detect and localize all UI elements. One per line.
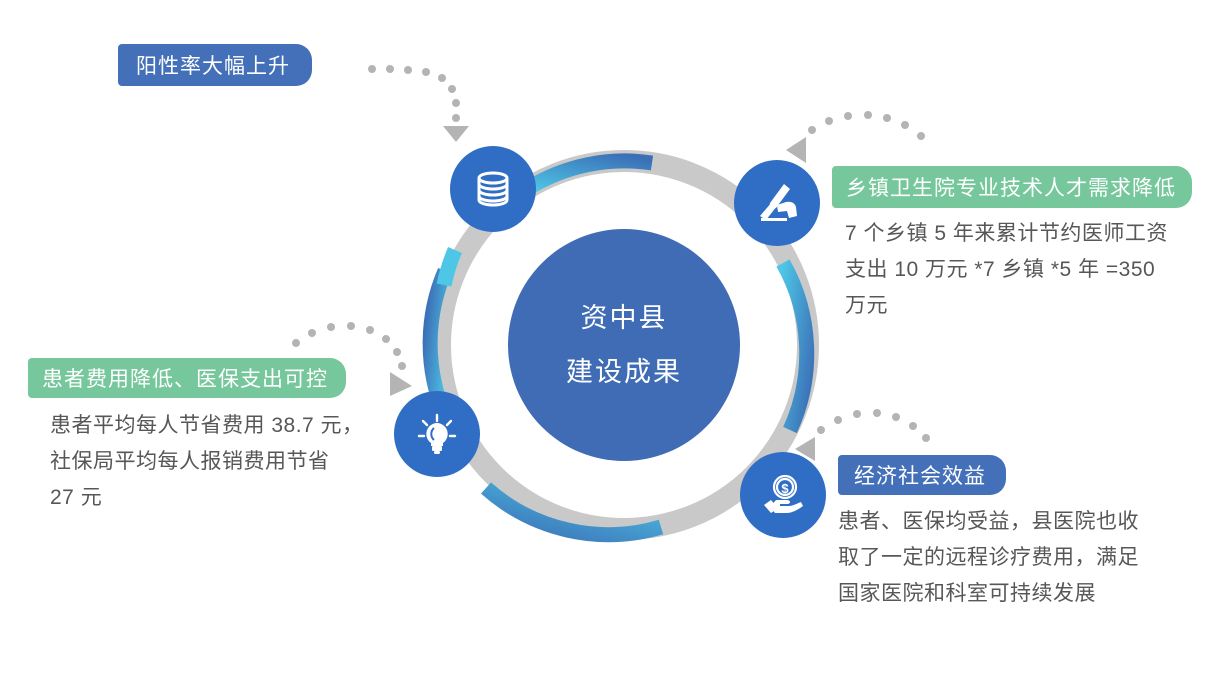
badge-economic-benefit[interactable]: 经济社会效益 <box>838 455 1006 495</box>
badge-economic-benefit-label: 经济社会效益 <box>854 460 986 490</box>
text-line: 社保局平均每人报销费用节省 <box>50 444 380 480</box>
node-lightbulb[interactable] <box>394 391 480 477</box>
database-icon <box>471 167 515 211</box>
badge-patient-cost[interactable]: 患者费用降低、医保支出可控 <box>28 358 346 398</box>
hand-holding-coin-icon: $ <box>760 472 806 518</box>
text-line: 国家医院和科室可持续发展 <box>838 576 1190 612</box>
node-database[interactable] <box>450 146 536 232</box>
center-title-line2: 建设成果 <box>566 358 682 386</box>
badge-positive-rate[interactable]: 阳性率大幅上升 <box>118 44 312 86</box>
badge-township-demand-label: 乡镇卫生院专业技术人才需求降低 <box>846 172 1176 202</box>
node-writing-hand[interactable] <box>734 160 820 246</box>
node-hand-holding-coin[interactable]: $ <box>740 452 826 538</box>
center-title-line1: 资中县 <box>581 304 668 332</box>
text-line: 取了一定的远程诊疗费用，满足 <box>838 540 1190 576</box>
text-line: 7 个乡镇 5 年来累计节约医师工资 <box>845 216 1205 252</box>
badge-positive-rate-label: 阳性率大幅上升 <box>136 50 290 80</box>
text-line: 27 元 <box>50 480 380 516</box>
badge-patient-cost-label: 患者费用降低、医保支出可控 <box>42 363 328 393</box>
text-line: 万元 <box>845 288 1205 324</box>
text-township-demand: 7 个乡镇 5 年来累计节约医师工资 支出 10 万元 *7 乡镇 *5 年 =… <box>845 216 1205 324</box>
text-patient-cost: 患者平均每人节省费用 38.7 元， 社保局平均每人报销费用节省 27 元 <box>50 408 380 516</box>
text-economic-benefit: 患者、医保均受益，县医院也收 取了一定的远程诊疗费用，满足 国家医院和科室可持续… <box>838 504 1190 612</box>
writing-hand-icon <box>754 180 800 226</box>
text-line: 患者平均每人节省费用 38.7 元， <box>50 408 380 444</box>
text-line: 支出 10 万元 *7 乡镇 *5 年 =350 <box>845 252 1205 288</box>
lightbulb-icon <box>415 412 459 456</box>
connector-township <box>786 111 925 163</box>
connector-positive <box>368 65 469 142</box>
infographic-canvas: 资中县 建设成果 <box>0 0 1212 674</box>
text-line: 患者、医保均受益，县医院也收 <box>838 504 1190 540</box>
center-circle: 资中县 建设成果 <box>508 229 740 461</box>
svg-text:$: $ <box>781 481 789 496</box>
badge-township-demand[interactable]: 乡镇卫生院专业技术人才需求降低 <box>832 166 1192 208</box>
connector-economic <box>795 409 930 461</box>
